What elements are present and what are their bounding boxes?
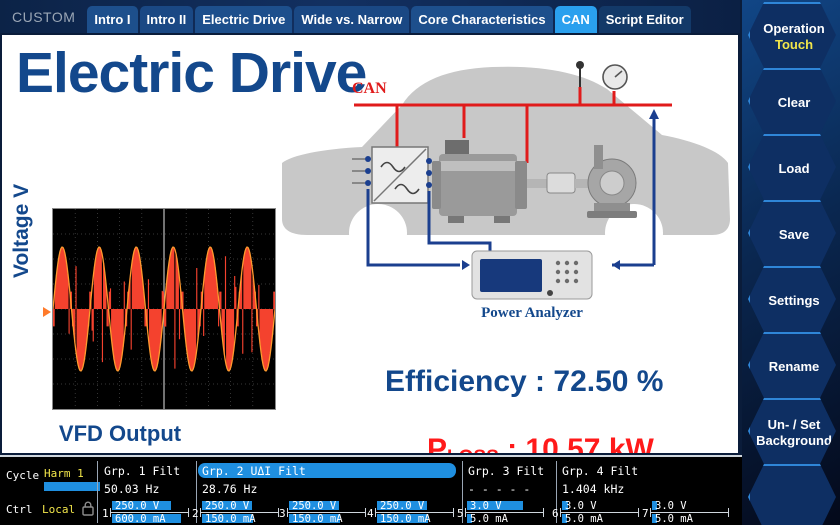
scope-caption: VFD Output [59, 421, 181, 447]
status-bar: Cycle Harm 1 Ctrl Local Grp. 1 Filt50.03… [0, 455, 742, 525]
sidebar-button-label: Save [779, 227, 809, 243]
sidebar-button-operation[interactable]: OperationTouch [748, 2, 840, 72]
tab-bar: CUSTOM Intro IIntro IIElectric DriveWide… [0, 0, 740, 33]
cycle-value[interactable]: Harm 1 [44, 467, 84, 480]
can-bus-label: CAN [352, 80, 387, 97]
tab-script-editor[interactable]: Script Editor [599, 6, 691, 33]
channel-current-value-4[interactable]: 150.0 mA [380, 513, 431, 525]
channel-tick-5-1 [543, 508, 544, 517]
channel-index-3: 3 [279, 507, 286, 520]
sidebar-button-un-set-background[interactable]: Un- / Set Background [748, 398, 840, 468]
channel-tick-3-0 [287, 508, 288, 517]
application-window: CUSTOM Intro IIntro IIElectric DriveWide… [0, 0, 840, 525]
sidebar-button-label: Operation [763, 21, 824, 37]
power-analyzer-label: Power Analyzer [481, 305, 583, 321]
right-sidebar: OperationTouchClearLoadSaveSettingsRenam… [742, 0, 840, 525]
status-bar-divider [0, 455, 742, 457]
channel-current-value-6[interactable]: 5.0 mA [565, 513, 603, 525]
channel-tick-3-1 [365, 508, 366, 517]
efficiency-readout: Efficiency : 72.50 % [385, 365, 663, 399]
power-analyzer-device [472, 251, 592, 299]
cycle-bar [44, 482, 100, 491]
channel-voltage-value-7[interactable]: 3.0 V [655, 500, 687, 512]
ploss-subscript: LOSS [447, 447, 499, 453]
channel-tick-1-1 [188, 508, 189, 517]
sidebar-button-clear[interactable]: Clear [748, 68, 840, 138]
status-divider-1 [97, 461, 98, 523]
group-header-4[interactable]: Grp. 4 Filt [562, 464, 638, 478]
scope-display[interactable] [52, 208, 276, 410]
tab-core-characteristics[interactable]: Core Characteristics [411, 6, 552, 33]
channel-tick-5-0 [465, 508, 466, 517]
channel-tick-1-0 [110, 508, 111, 517]
group-frequency-3: - - - - - [468, 482, 530, 496]
channel-index-5: 5 [457, 507, 464, 520]
channel-voltage-value-6[interactable]: 3.0 V [565, 500, 597, 512]
channel-voltage-value-5[interactable]: 3.0 V [470, 500, 502, 512]
ploss-separator: : [499, 433, 526, 453]
channel-index-1: 1 [102, 507, 109, 520]
efficiency-value: 72.50 % [553, 365, 663, 398]
sidebar-button-empty-7[interactable] [748, 464, 840, 525]
channel-tick-6-1 [638, 508, 639, 517]
channel-current-value-5[interactable]: 5.0 mA [470, 513, 508, 525]
group-header-1[interactable]: Grp. 1 Filt [104, 464, 180, 478]
tab-can[interactable]: CAN [555, 6, 597, 33]
tab-wide-vs-narrow[interactable]: Wide vs. Narrow [294, 6, 409, 33]
group-header-2[interactable]: Grp. 2 UΔI Filt [202, 464, 306, 478]
channel-voltage-value-3[interactable]: 250.0 V [292, 500, 336, 512]
lock-icon [82, 501, 94, 516]
ctrl-label: Ctrl [6, 503, 33, 516]
channel-current-value-3[interactable]: 150.0 mA [292, 513, 343, 525]
group-frequency-4: 1.404 kHz [562, 482, 624, 496]
sidebar-button-settings[interactable]: Settings [748, 266, 840, 336]
channel-index-2: 2 [192, 507, 199, 520]
sidebar-button-label: Clear [778, 95, 811, 111]
group-frequency-1: 50.03 Hz [104, 482, 159, 496]
ploss-prefix: P [427, 433, 447, 453]
efficiency-label: Efficiency : [385, 365, 553, 398]
sidebar-button-label: Load [778, 161, 809, 177]
channel-tick-7-0 [650, 508, 651, 517]
scope-y-axis-label: Voltage V [10, 184, 34, 278]
trigger-marker-icon [43, 307, 51, 317]
group-frequency-2: 28.76 Hz [202, 482, 257, 496]
power-loss-readout: PLOSS : 10.57 kW [427, 433, 654, 453]
tab-electric-drive[interactable]: Electric Drive [195, 6, 292, 33]
channel-tick-4-1 [453, 508, 454, 517]
waveform-plot [53, 209, 275, 409]
tab-intro-i[interactable]: Intro I [87, 6, 137, 33]
sidebar-button-sublabel: Touch [775, 37, 813, 53]
channel-index-4: 4 [367, 507, 374, 520]
vehicle-diagram: CAN [282, 43, 732, 328]
ctrl-value[interactable]: Local [42, 503, 75, 516]
channel-tick-7-1 [728, 508, 729, 517]
group-header-3[interactable]: Grp. 3 Filt [468, 464, 544, 478]
channel-voltage-value-1[interactable]: 250.0 V [115, 500, 159, 512]
custom-label: CUSTOM [0, 9, 87, 33]
sidebar-button-load[interactable]: Load [748, 134, 840, 204]
tab-intro-ii[interactable]: Intro II [140, 6, 194, 33]
channel-tick-2-0 [200, 508, 201, 517]
channel-voltage-value-2[interactable]: 250.0 V [205, 500, 249, 512]
channel-current-value-2[interactable]: 150.0 mA [205, 513, 256, 525]
channel-index-6: 6 [552, 507, 559, 520]
main-content-panel: Electric Drive CAN [2, 35, 738, 453]
sidebar-button-rename[interactable]: Rename [748, 332, 840, 402]
channel-tick-6-0 [560, 508, 561, 517]
channel-voltage-value-4[interactable]: 250.0 V [380, 500, 424, 512]
channel-current-value-1[interactable]: 600.0 mA [115, 513, 166, 525]
sidebar-button-label: Un- / Set Background [750, 417, 838, 450]
ploss-value: 10.57 kW [525, 433, 653, 453]
sidebar-button-label: Rename [769, 359, 820, 375]
cycle-label: Cycle [6, 469, 39, 482]
channel-index-7: 7 [642, 507, 649, 520]
channel-current-value-7[interactable]: 5.0 mA [655, 513, 693, 525]
channel-tick-4-0 [375, 508, 376, 517]
sidebar-button-save[interactable]: Save [748, 200, 840, 270]
sidebar-button-label: Settings [768, 293, 819, 309]
